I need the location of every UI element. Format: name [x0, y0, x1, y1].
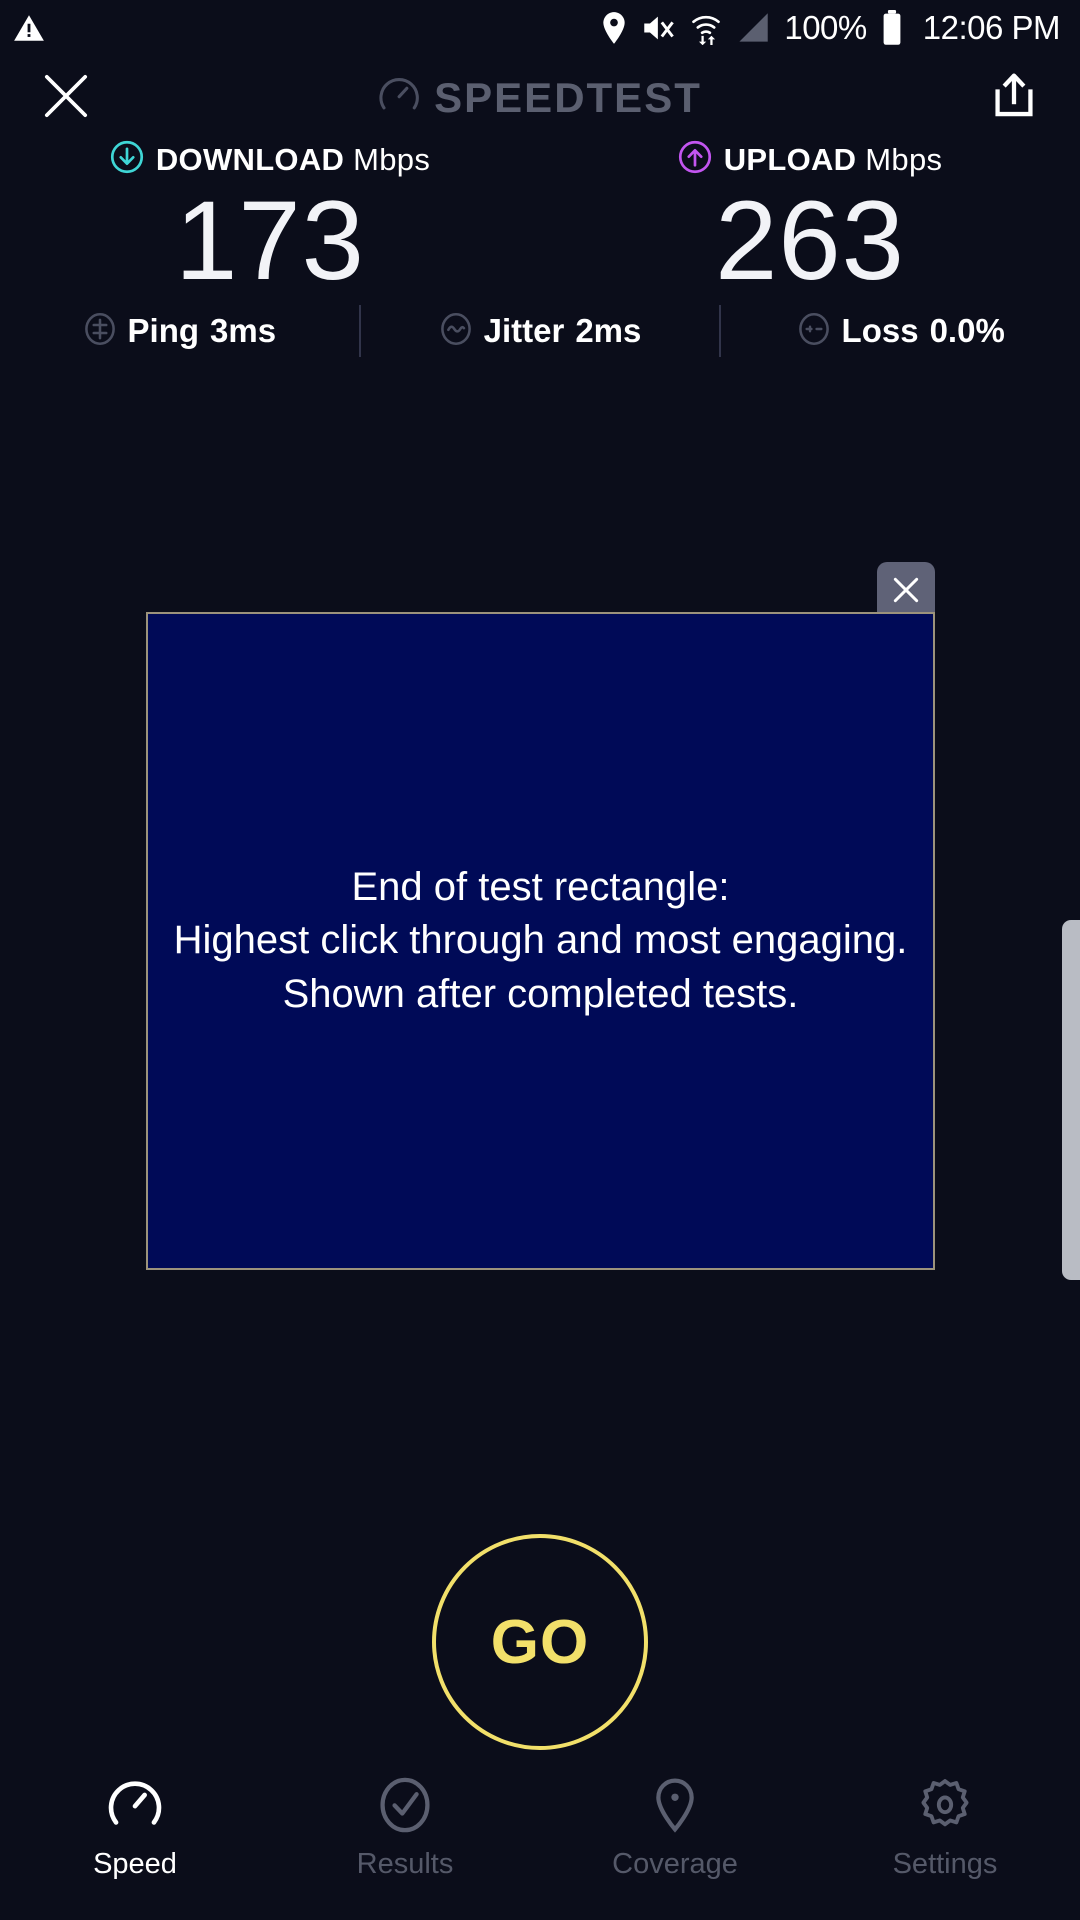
nav-item-speed[interactable]: Speed	[0, 1760, 270, 1920]
ad-line-2: Highest click through and most engaging.	[174, 914, 908, 967]
cellular-signal-icon	[736, 12, 770, 44]
ad-text: End of test rectangle: Highest click thr…	[168, 861, 914, 1021]
vertical-scrollbar[interactable]	[1062, 920, 1080, 1280]
nav-label-coverage: Coverage	[612, 1848, 738, 1881]
close-button[interactable]	[36, 68, 96, 128]
advertisement-banner[interactable]: End of test rectangle: Highest click thr…	[146, 612, 935, 1270]
nav-item-results[interactable]: Results	[270, 1760, 540, 1920]
go-button[interactable]: GO	[432, 1534, 648, 1750]
clock-label: 12:06 PM	[923, 9, 1060, 47]
share-button[interactable]	[984, 68, 1044, 128]
upload-arrow-icon	[678, 140, 712, 179]
jitter-value: 2ms	[575, 312, 641, 350]
check-circle-icon	[376, 1774, 434, 1836]
close-icon	[42, 72, 90, 125]
loss-label: Loss	[842, 312, 919, 350]
download-metric: DOWNLOAD Mbps 173	[0, 140, 540, 297]
nav-item-coverage[interactable]: Coverage	[540, 1760, 810, 1920]
nav-label-speed: Speed	[93, 1848, 177, 1881]
upload-value: 263	[715, 185, 905, 297]
download-header: DOWNLOAD Mbps	[110, 140, 430, 179]
loss-metric: Loss 0.0%	[721, 312, 1080, 351]
speedometer-icon	[106, 1774, 164, 1836]
download-label: DOWNLOAD Mbps	[156, 142, 430, 178]
app-header: SPEEDTEST	[0, 58, 1080, 138]
download-upload-row: DOWNLOAD Mbps 173 UPLOAD Mbps 263	[0, 140, 1080, 297]
status-bar-left	[12, 11, 46, 45]
ping-icon	[83, 312, 117, 351]
warning-triangle-icon	[12, 11, 46, 45]
jitter-metric: Jitter 2ms	[361, 312, 720, 351]
loss-icon	[797, 312, 831, 351]
location-pin-icon	[600, 11, 628, 45]
download-value: 173	[175, 185, 365, 297]
ad-line-3: Shown after completed tests.	[174, 968, 908, 1021]
nav-label-results: Results	[357, 1848, 454, 1881]
download-arrow-icon	[110, 140, 144, 179]
upload-header: UPLOAD Mbps	[678, 140, 943, 179]
bottom-navigation-bar: Speed Results Coverage	[0, 1760, 1080, 1920]
jitter-icon	[439, 312, 473, 351]
page-title: SPEEDTEST	[434, 74, 702, 122]
gear-icon	[916, 1774, 974, 1836]
battery-full-icon	[881, 10, 903, 46]
ping-value: 3ms	[210, 312, 276, 350]
speedtest-app-screen: 100% 12:06 PM SPEEDTEST	[0, 0, 1080, 1920]
results-panel: DOWNLOAD Mbps 173 UPLOAD Mbps 263	[0, 140, 1080, 297]
nav-label-settings: Settings	[893, 1848, 998, 1881]
upload-label: UPLOAD Mbps	[724, 142, 943, 178]
wifi-icon	[690, 11, 722, 45]
go-button-label: GO	[491, 1607, 589, 1678]
share-icon	[991, 71, 1037, 126]
speedometer-icon	[378, 75, 420, 122]
nav-item-settings[interactable]: Settings	[810, 1760, 1080, 1920]
ping-metric: Ping 3ms	[0, 312, 359, 351]
connection-metrics-row: Ping 3ms Jitter 2ms Loss	[0, 305, 1080, 357]
app-title-group: SPEEDTEST	[378, 74, 702, 122]
status-bar: 100% 12:06 PM	[0, 0, 1080, 55]
close-icon	[890, 574, 922, 611]
map-pin-icon	[646, 1774, 704, 1836]
ping-label: Ping	[128, 312, 200, 350]
status-bar-right: 100% 12:06 PM	[600, 9, 1060, 47]
jitter-label: Jitter	[484, 312, 565, 350]
mute-icon	[642, 13, 676, 43]
ad-line-1: End of test rectangle:	[174, 861, 908, 914]
loss-value: 0.0%	[930, 312, 1005, 350]
upload-metric: UPLOAD Mbps 263	[540, 140, 1080, 297]
battery-percent-label: 100%	[784, 9, 866, 47]
